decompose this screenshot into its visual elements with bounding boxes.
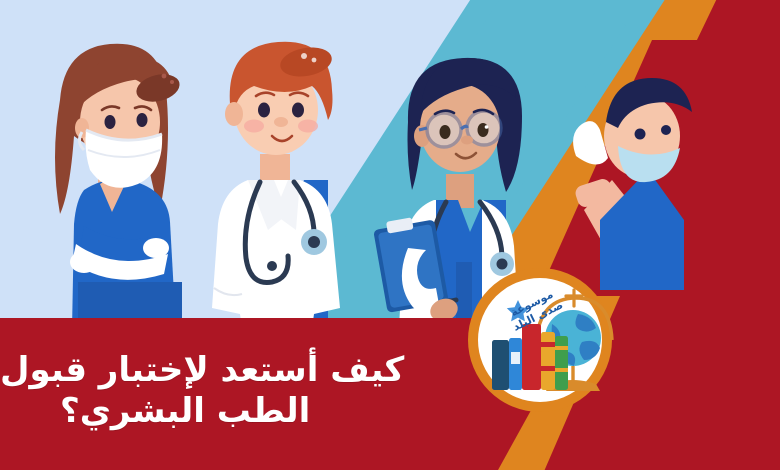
headline-line-2: الطب البشري؟: [0, 391, 310, 432]
person-nurse-masked-woman: [32, 30, 184, 330]
person-masked-person-waving: [556, 60, 706, 290]
person-doctor-red-hair: [188, 30, 358, 342]
brand-badge[interactable]: موسوعة صدى البلد: [466, 266, 614, 414]
headline-text: كيف أستعد لإختبار قبول الطب البشري؟: [0, 318, 500, 470]
headline-line-1: كيف أستعد لإختبار قبول: [0, 350, 404, 391]
poster-canvas: كيف أستعد لإختبار قبول الطب البشري؟: [0, 0, 780, 470]
